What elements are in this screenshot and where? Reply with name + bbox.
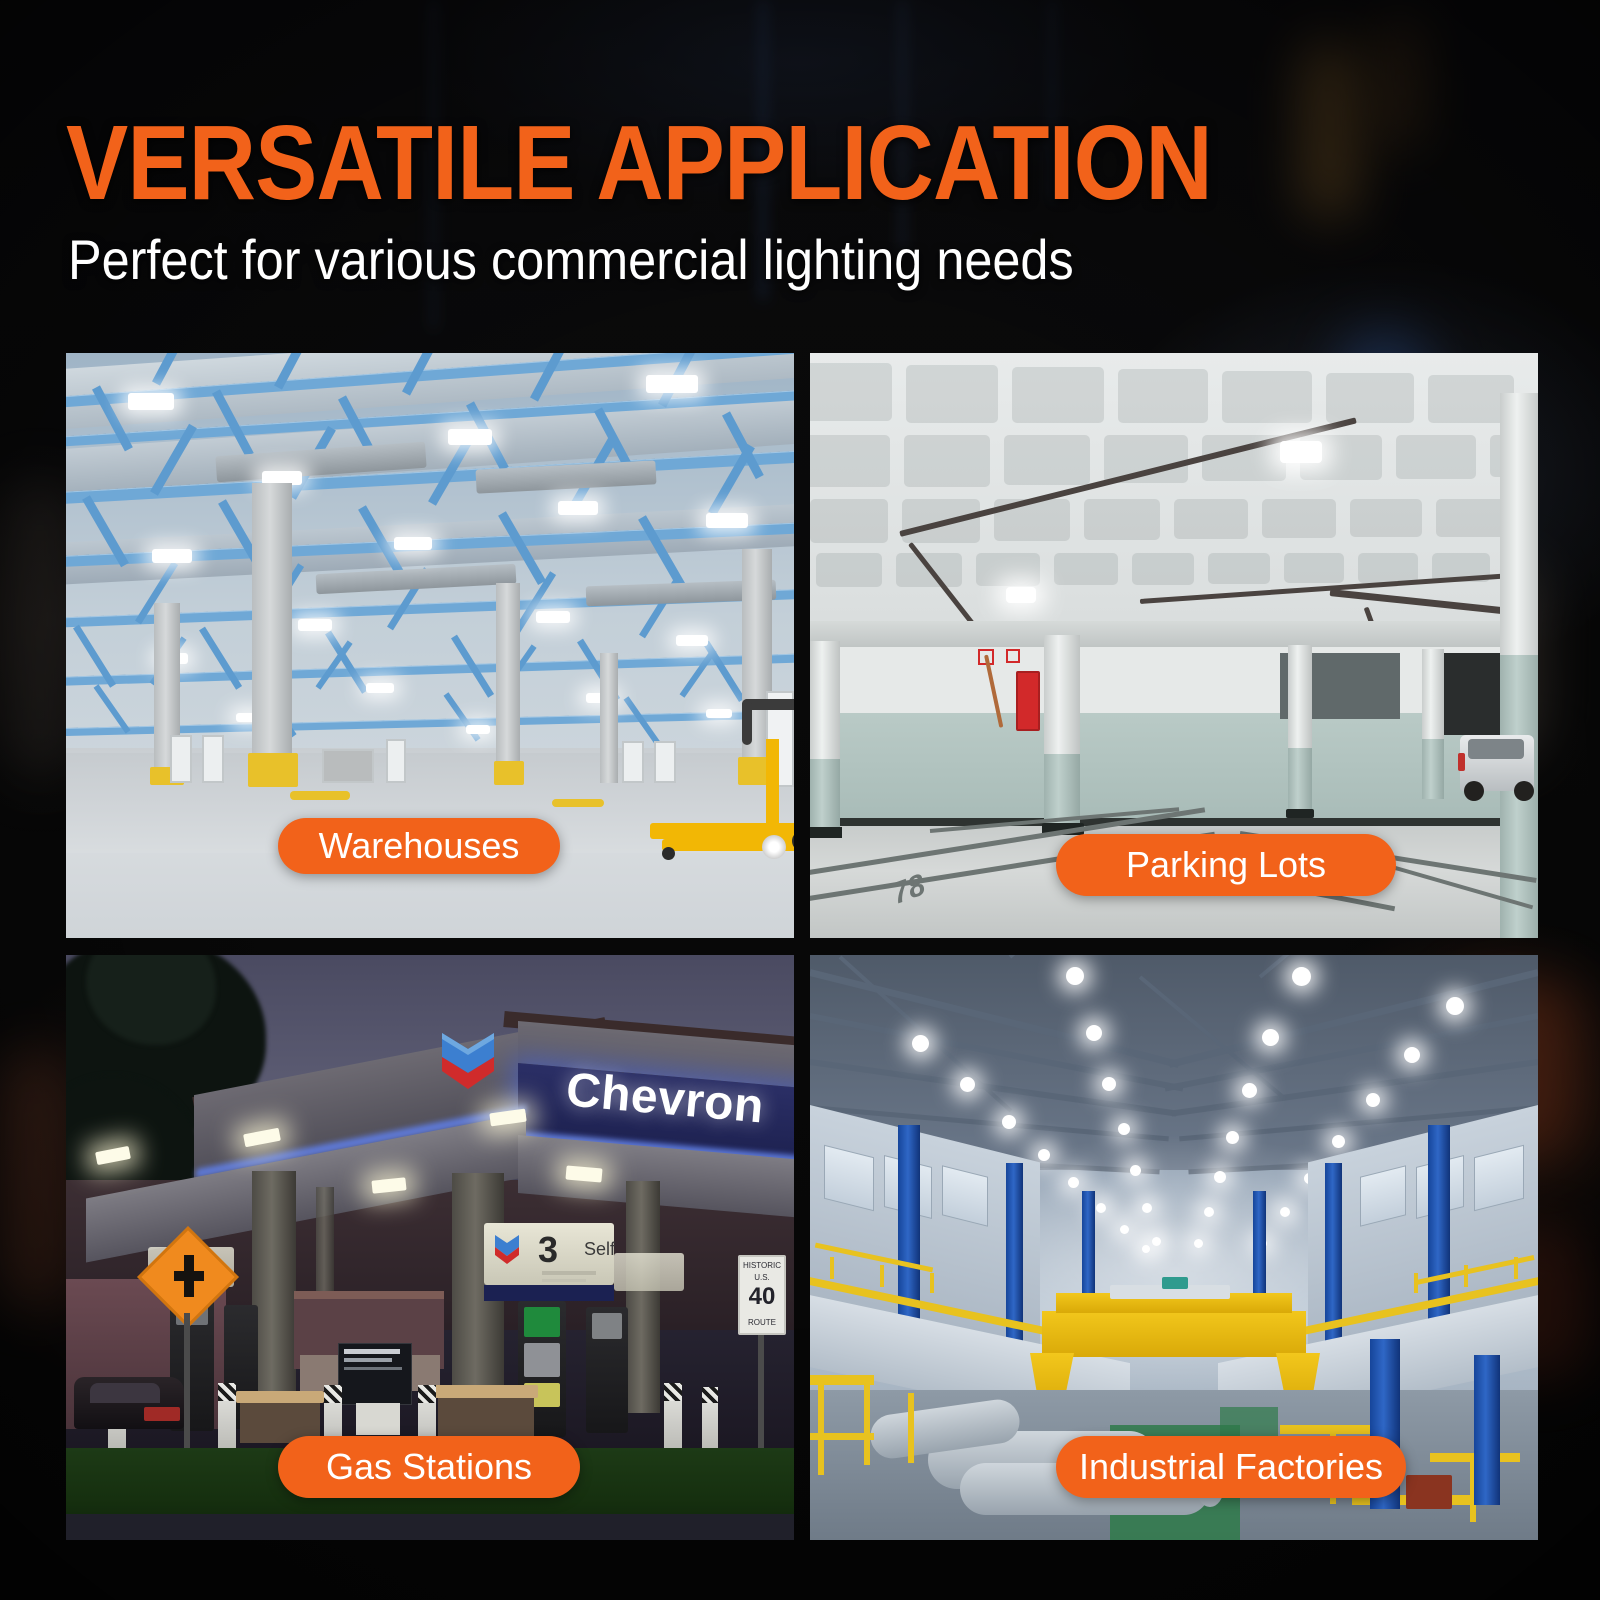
panel-label-industrial-factories: Industrial Factories: [1056, 1436, 1406, 1498]
panel-label-warehouses: Warehouses: [278, 818, 560, 874]
gas-station-photo: Chevron: [66, 955, 794, 1540]
application-grid: Warehouses: [66, 353, 1538, 1540]
panel-industrial-factories[interactable]: Industrial Factories: [810, 955, 1538, 1540]
warehouse-photo: Warehouses: [66, 353, 794, 938]
promo-banner: VERSATILE APPLICATION Perfect for variou…: [0, 0, 1600, 1600]
pump-number: 3: [538, 1229, 558, 1271]
page-subtitle: Perfect for various commercial lighting …: [68, 232, 1148, 288]
pump-mode-label: Self: [584, 1239, 615, 1260]
panel-warehouses[interactable]: Warehouses: [66, 353, 794, 938]
parking-photo: 78 Parking Lots: [810, 353, 1538, 938]
panel-gas-stations[interactable]: Chevron: [66, 955, 794, 1540]
panel-label-parking-lots: Parking Lots: [1056, 834, 1396, 896]
factory-photo: Industrial Factories: [810, 955, 1538, 1540]
panel-parking-lots[interactable]: 78 Parking Lots: [810, 353, 1538, 938]
page-title: VERSATILE APPLICATION: [66, 110, 1034, 216]
panel-label-gas-stations: Gas Stations: [278, 1436, 580, 1498]
route-sign: HISTORIC U.S. 40 ROUTE: [738, 1255, 786, 1335]
gantry-crane: [1042, 1311, 1306, 1357]
chevron-logo-icon: [440, 1027, 496, 1093]
